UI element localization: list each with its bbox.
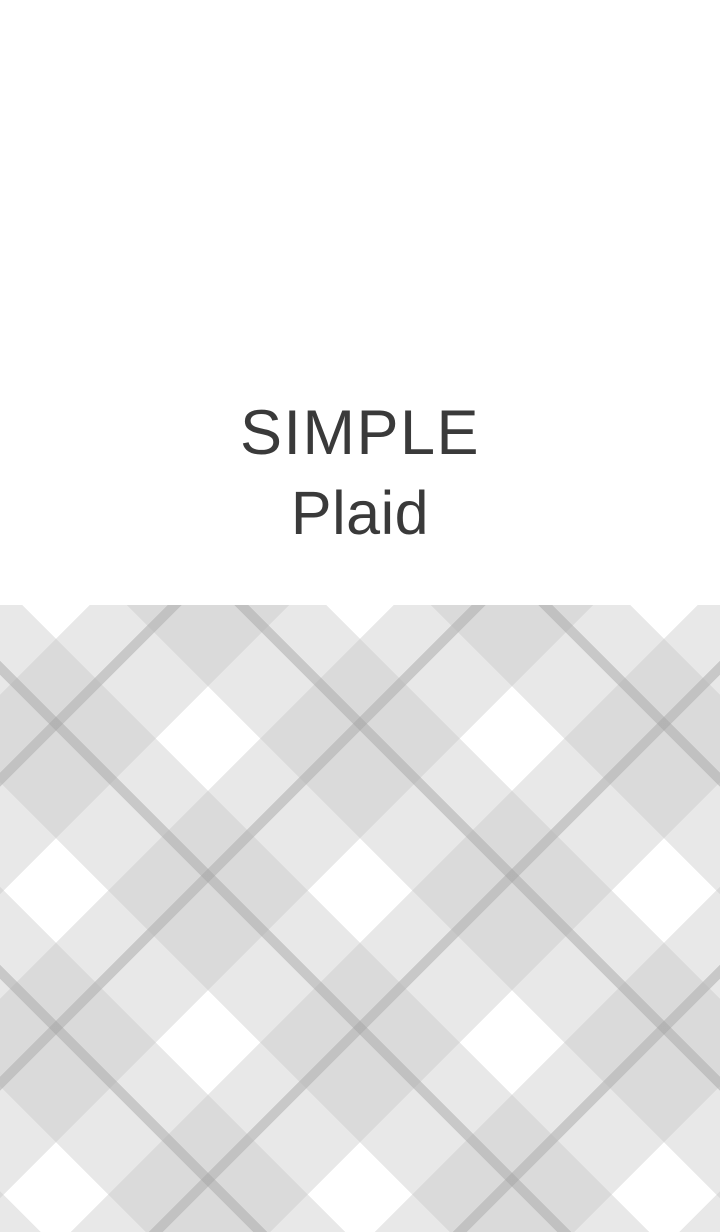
title-header: SIMPLE Plaid <box>0 0 720 605</box>
title-block: SIMPLE Plaid <box>0 396 720 556</box>
theme-preview-canvas: SIMPLE Plaid 679_SP25_bw03-9 <box>0 0 720 1232</box>
plaid-pattern-panel: 679_SP25_bw03-9 <box>0 605 720 1232</box>
page-title: SIMPLE <box>0 396 720 470</box>
plaid-rule-layer-b <box>0 605 720 1232</box>
page-subtitle: Plaid <box>0 470 720 556</box>
